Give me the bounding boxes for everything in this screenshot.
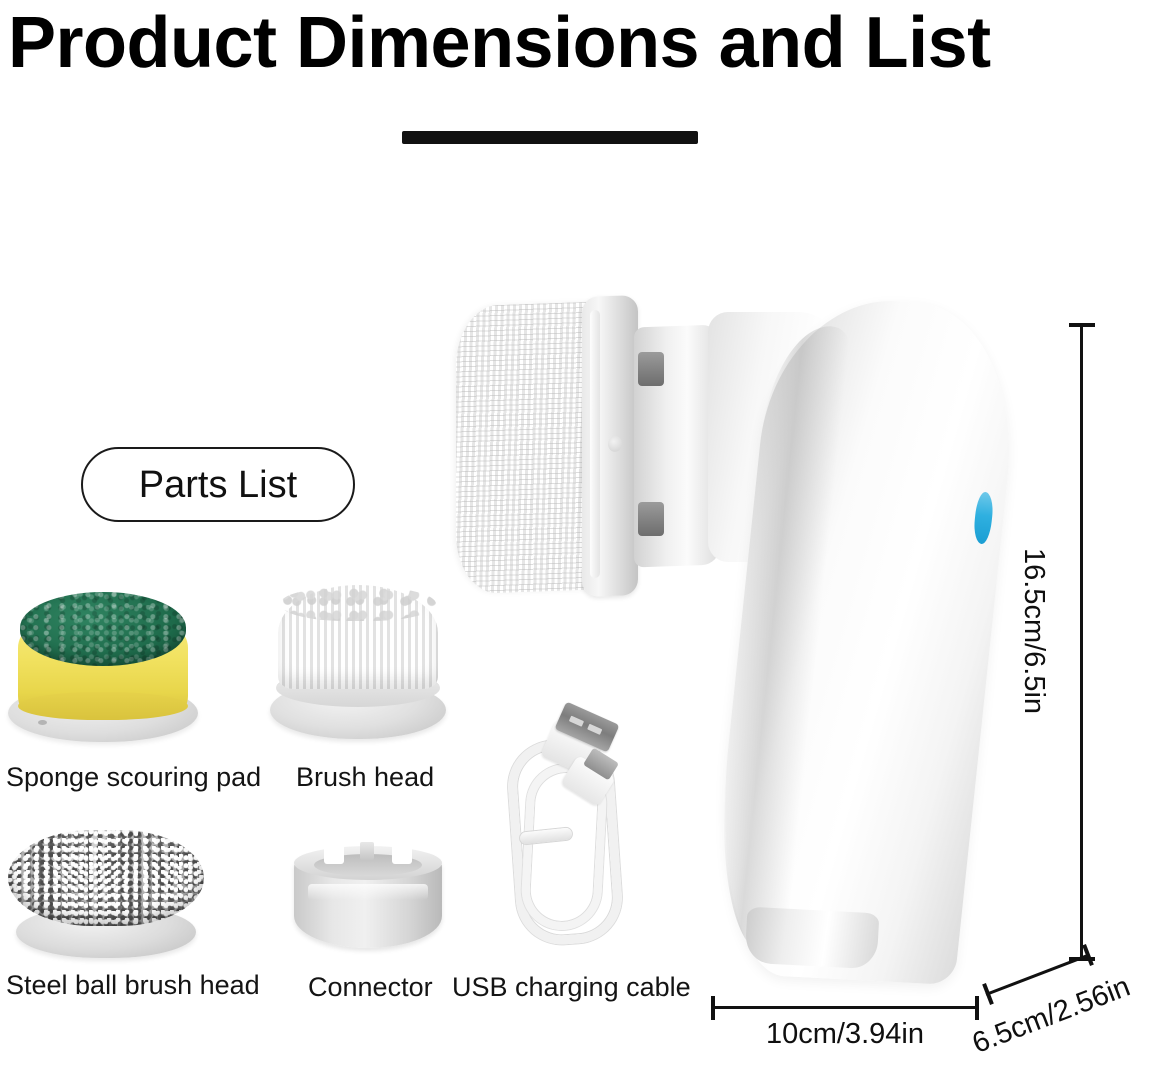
title-divider [402, 131, 698, 144]
width-dimension-cap-right [975, 996, 979, 1020]
product-handle-base [745, 907, 880, 970]
width-dimension-line [712, 1006, 978, 1009]
connector-step-highlight [308, 884, 428, 900]
product-collar-clip-top [638, 352, 664, 386]
product-brush-bristles [456, 302, 596, 595]
part-image-steel-ball-brush-head [8, 830, 204, 958]
steel-ball-mesh [8, 830, 204, 926]
part-image-sponge-scouring-pad [8, 592, 198, 742]
product-brush-plate-ridge [590, 310, 600, 578]
parts-list-badge: Parts List [81, 447, 355, 522]
product-collar-clip-bottom [638, 502, 664, 536]
brush-head-bristles [278, 585, 438, 689]
height-dimension-label: 16.5cm/6.5in [1018, 548, 1049, 768]
height-dimension-line [1080, 325, 1083, 961]
brush-head-icon [264, 585, 452, 741]
sponge-scour-surface [20, 592, 186, 666]
part-label-sponge-scouring-pad: Sponge scouring pad [6, 762, 261, 792]
connector-notch-right [392, 844, 412, 864]
steel-ball-brush-head-icon [8, 830, 204, 958]
part-label-connector: Connector [308, 972, 433, 1002]
parts-list-label: Parts List [139, 465, 297, 505]
part-label-steel-ball-brush-head: Steel ball brush head [6, 970, 260, 1000]
sponge-scouring-pad-icon [8, 592, 198, 742]
connector-icon [294, 840, 442, 952]
depth-dimension-label: 6.5cm/2.56in [968, 970, 1134, 1059]
connector-center-tab [360, 842, 374, 860]
product-photo-electric-spin-scrubber [440, 290, 1020, 980]
part-image-connector [294, 840, 442, 952]
part-image-brush-head [264, 585, 452, 741]
connector-notch-left [324, 844, 344, 864]
width-dimension-label: 10cm/3.94in [712, 1018, 978, 1050]
part-label-brush-head: Brush head [296, 762, 434, 792]
page-title: Product Dimensions and List [8, 2, 1143, 84]
